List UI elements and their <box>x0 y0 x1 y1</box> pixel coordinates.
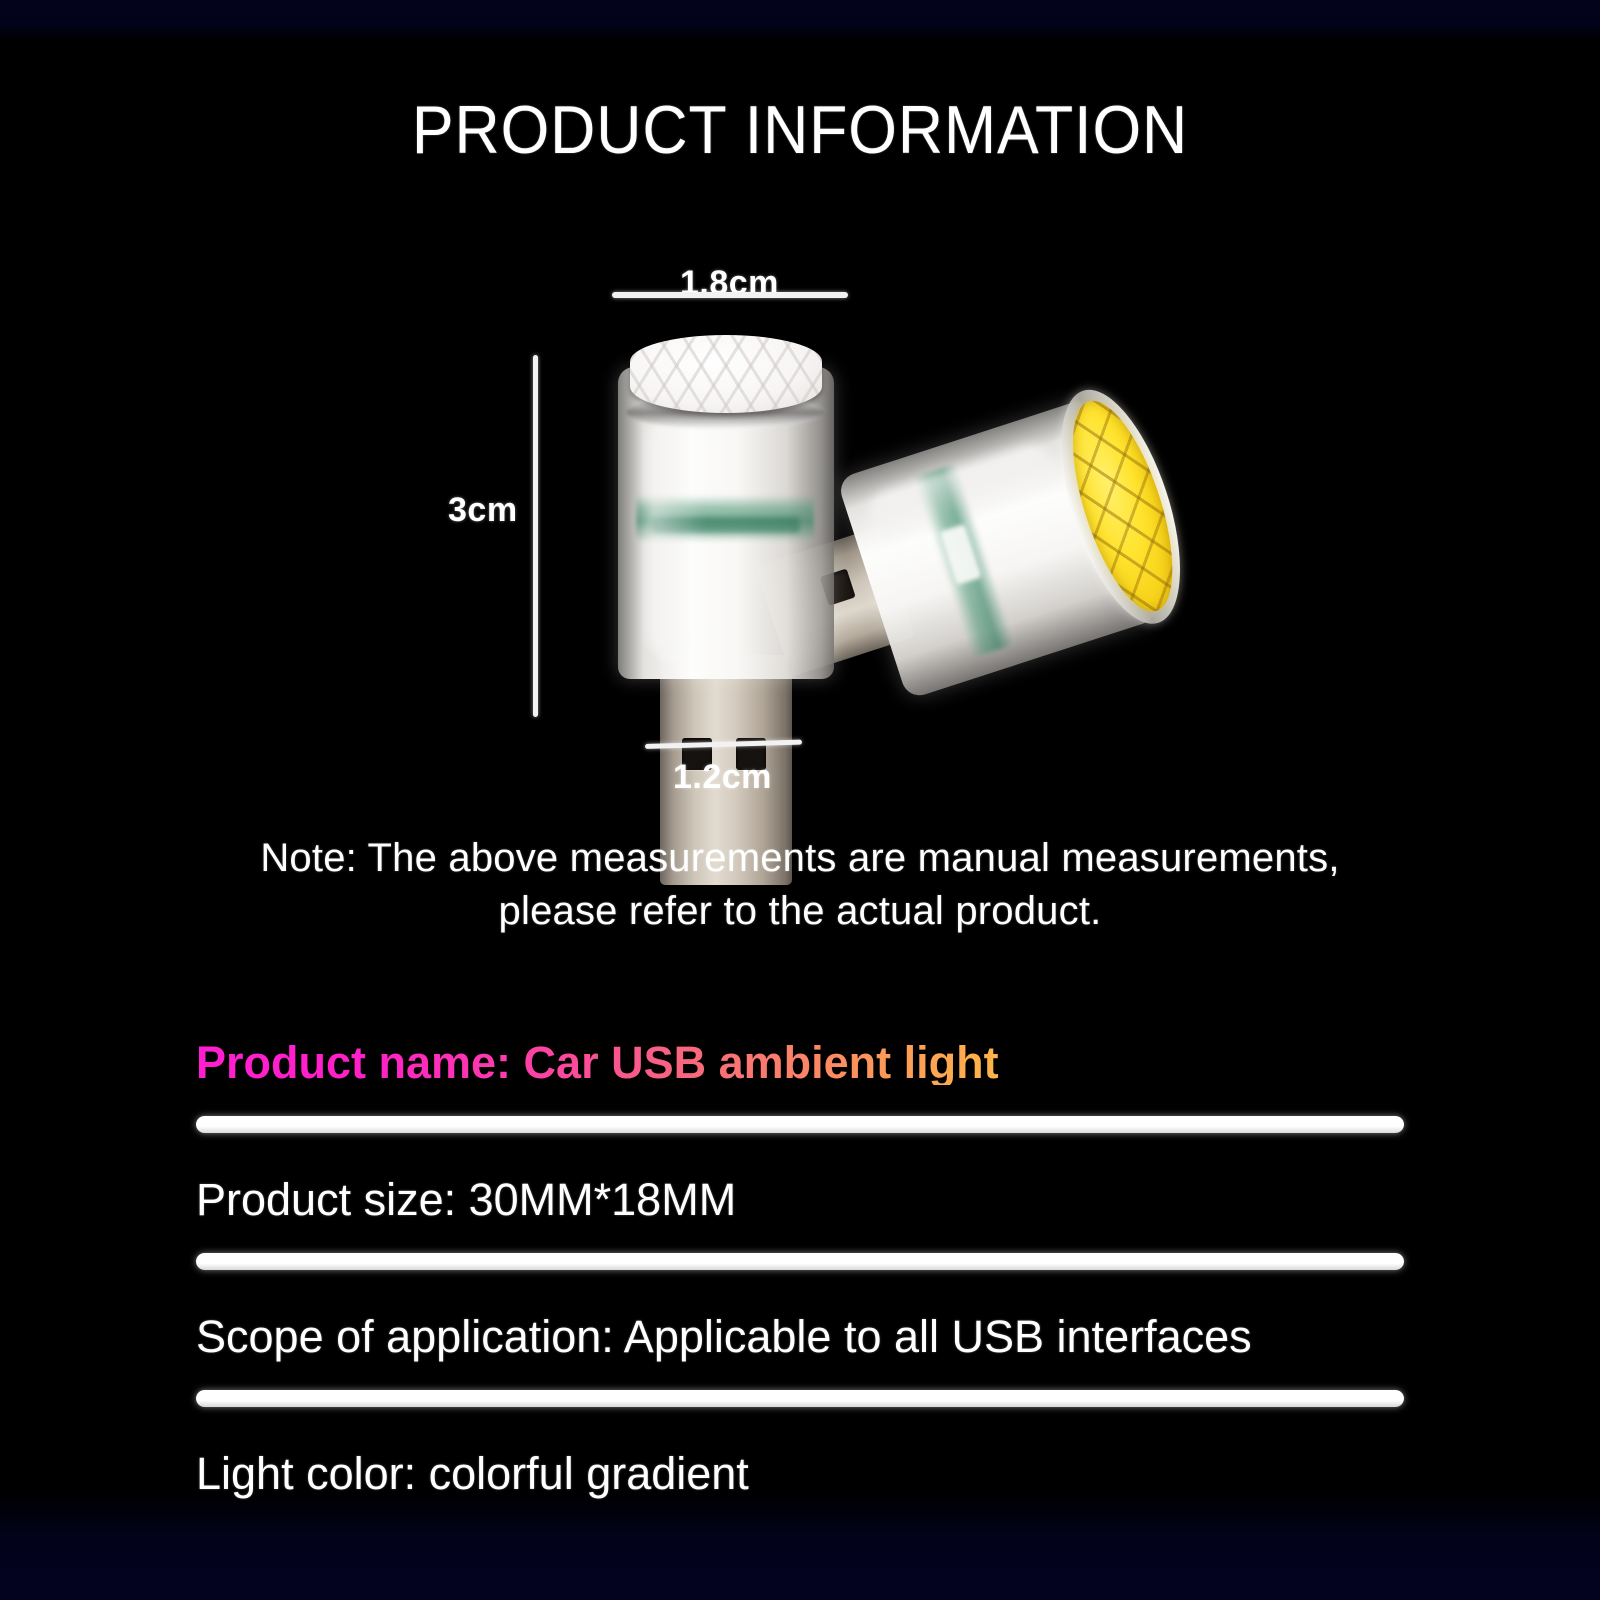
spec-divider-3 <box>196 1390 1404 1407</box>
measurement-note-line-2: please refer to the actual product. <box>0 885 1600 938</box>
spec-divider-2 <box>196 1253 1404 1270</box>
measurement-note-line-1: Note: The above measurements are manual … <box>260 836 1339 880</box>
spec-list: Product name: Car USB ambient light Prod… <box>196 1040 1404 1496</box>
spacer <box>196 1085 1404 1116</box>
spec-divider-1 <box>196 1116 1404 1133</box>
spacer <box>196 1270 1404 1314</box>
bottom-edge-band <box>0 1490 1600 1600</box>
spec-scope-of-application: Scope of application: Applicable to all … <box>196 1314 1404 1359</box>
spacer <box>196 1133 1404 1177</box>
top-edge-band <box>0 0 1600 40</box>
spec-product-name: Product name: Car USB ambient light <box>196 1040 1404 1085</box>
dimension-label-height-left: 3cm <box>448 493 518 527</box>
dimension-rule-width-top <box>612 292 848 298</box>
spacer <box>196 1359 1404 1390</box>
spacer <box>196 1222 1404 1253</box>
upright-body-highlight <box>648 411 704 661</box>
dimension-label-width-bottom: 1.2cm <box>673 760 772 794</box>
upright-faceted-lens-top <box>630 335 822 413</box>
spec-product-size: Product size: 30MM*18MM <box>196 1177 1404 1222</box>
spec-light-color: Light color: colorful gradient <box>196 1451 1404 1496</box>
measurement-note: Note: The above measurements are manual … <box>0 832 1600 938</box>
dimension-rule-height-left <box>533 355 538 717</box>
page-title: PRODUCT INFORMATION <box>64 96 1536 164</box>
spacer <box>196 1407 1404 1451</box>
product-photo-stage: 1.8cm 3cm 1.2cm <box>0 250 1600 820</box>
product-information-page: PRODUCT INFORMATION <box>0 0 1600 1600</box>
